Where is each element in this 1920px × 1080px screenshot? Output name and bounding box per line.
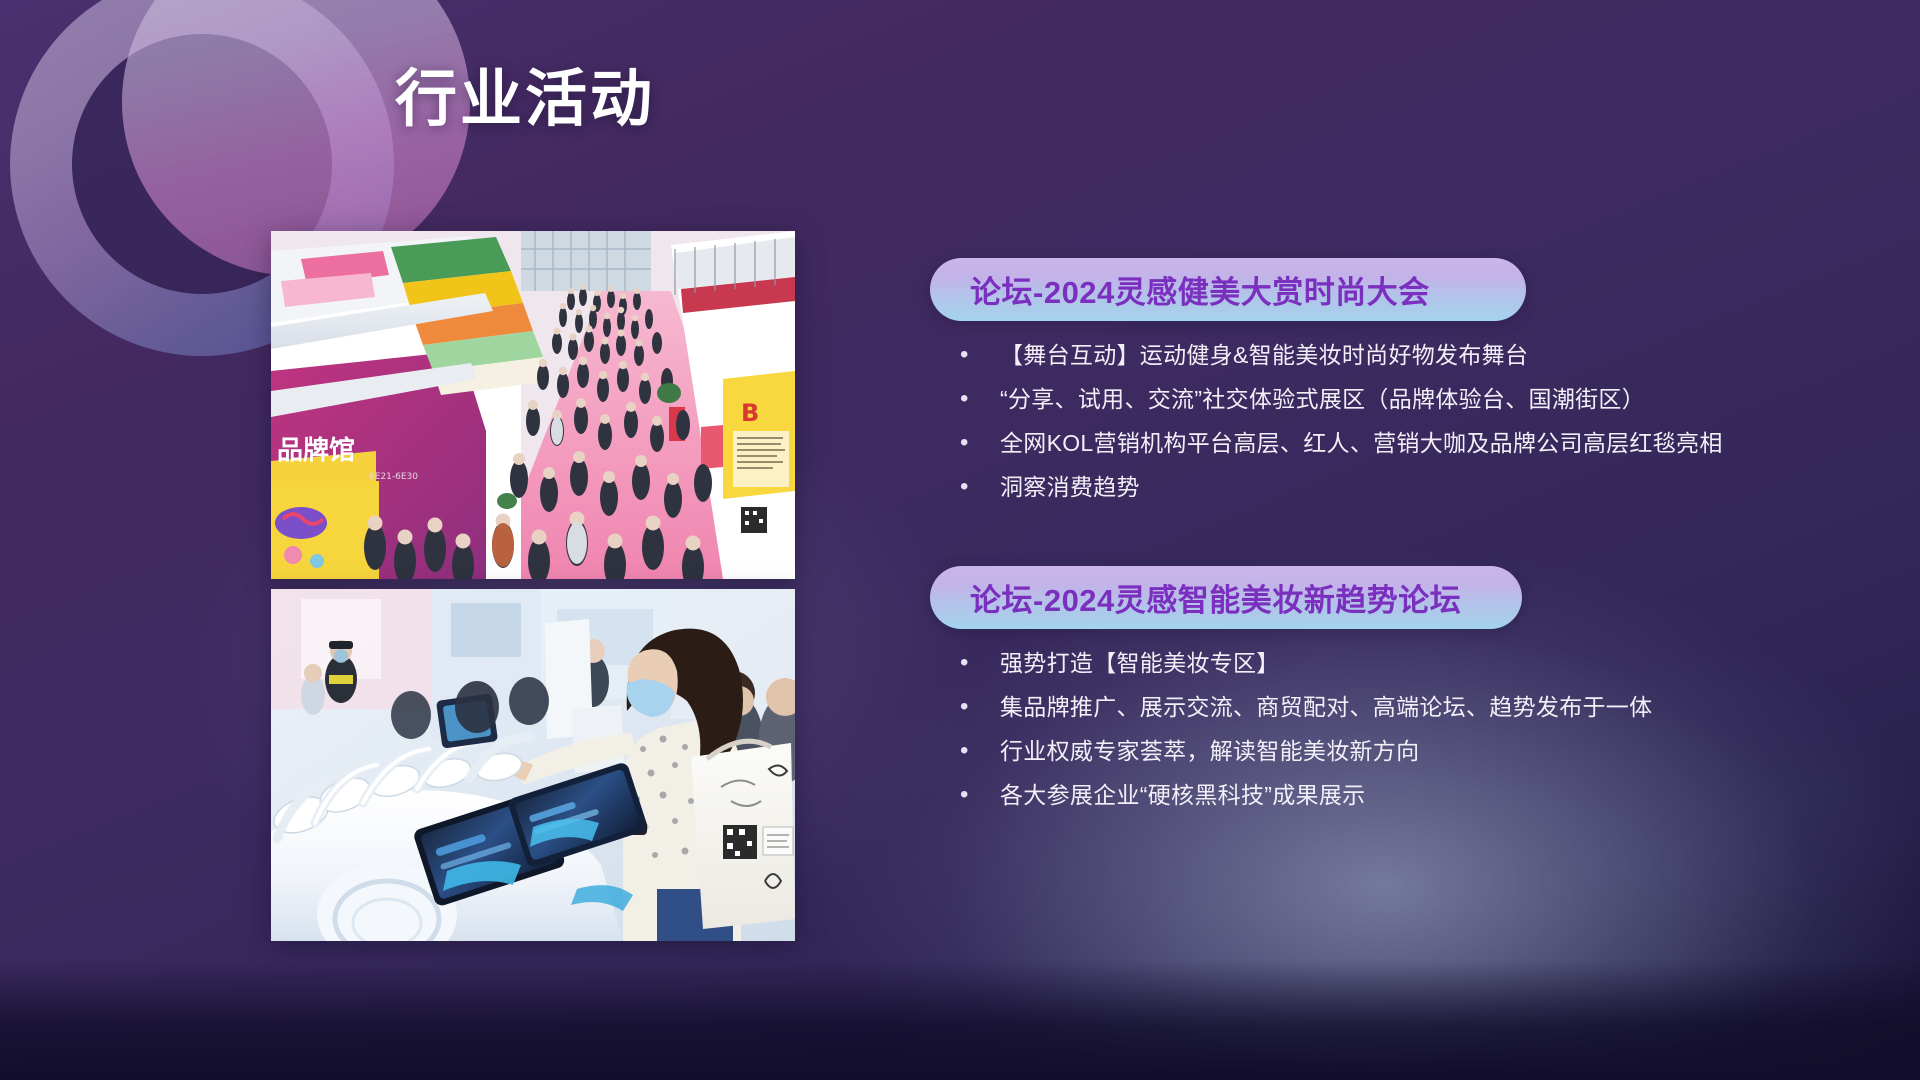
svg-text:B: B <box>741 399 759 427</box>
section-header-pill[interactable]: 论坛-2024灵感健美大赏时尚大会 <box>930 258 1526 321</box>
bullet-list: • 强势打造【智能美妆专区】 • 集品牌推广、展示交流、商贸配对、高端论坛、趋势… <box>944 648 1652 824</box>
list-item: • 全网KOL营销机构平台高层、红人、营销大咖及品牌公司高层红毯亮相 <box>944 428 1723 458</box>
bullet-marker-icon: • <box>944 692 1000 722</box>
list-item-label: 全网KOL营销机构平台高层、红人、营销大咖及品牌公司高层红毯亮相 <box>1000 428 1723 458</box>
page-title: 行业活动 <box>395 66 655 134</box>
exhibition-hall-photo: 品牌馆 6E21-6E30 B <box>271 231 795 579</box>
smart-beauty-devices-photo <box>271 589 795 941</box>
list-item-label: 各大参展企业“硬核黑科技”成果展示 <box>1000 780 1365 810</box>
exhibition-hall-illustration: 品牌馆 6E21-6E30 B <box>271 231 795 579</box>
svg-text:6E21-6E30: 6E21-6E30 <box>369 472 418 482</box>
list-item: • 行业权威专家荟萃，解读智能美妆新方向 <box>944 736 1652 766</box>
bullet-marker-icon: • <box>944 648 1000 678</box>
bullet-marker-icon: • <box>944 428 1000 458</box>
list-item: • 强势打造【智能美妆专区】 <box>944 648 1652 678</box>
bullet-marker-icon: • <box>944 340 1000 370</box>
section-header-label: 论坛-2024灵感健美大赏时尚大会 <box>970 267 1430 312</box>
bullet-marker-icon: • <box>944 472 1000 502</box>
list-item-label: 行业权威专家荟萃，解读智能美妆新方向 <box>1000 736 1419 766</box>
bullet-marker-icon: • <box>944 384 1000 414</box>
list-item-label: 集品牌推广、展示交流、商贸配对、高端论坛、趋势发布于一体 <box>1000 692 1652 722</box>
list-item-label: 强势打造【智能美妆专区】 <box>1000 648 1280 678</box>
svg-text:品牌馆: 品牌馆 <box>277 435 355 466</box>
bullet-marker-icon: • <box>944 736 1000 766</box>
list-item-label: 【舞台互动】运动健身&智能美妆时尚好物发布舞台 <box>1000 340 1528 370</box>
bullet-list: • 【舞台互动】运动健身&智能美妆时尚好物发布舞台 • “分享、试用、交流”社交… <box>944 340 1723 516</box>
list-item-label: “分享、试用、交流”社交体验式展区（品牌体验台、国潮街区） <box>1000 384 1645 414</box>
list-item: • “分享、试用、交流”社交体验式展区（品牌体验台、国潮街区） <box>944 384 1723 414</box>
list-item: • 各大参展企业“硬核黑科技”成果展示 <box>944 780 1652 810</box>
bullet-marker-icon: • <box>944 780 1000 810</box>
smart-beauty-illustration <box>271 589 795 941</box>
list-item-label: 洞察消费趋势 <box>1000 472 1140 502</box>
slide-canvas: 行业活动 <box>0 0 1920 1080</box>
list-item: • 洞察消费趋势 <box>944 472 1723 502</box>
section-header-label: 论坛-2024灵感智能美妆新趋势论坛 <box>970 575 1461 620</box>
section-header-pill[interactable]: 论坛-2024灵感智能美妆新趋势论坛 <box>930 566 1522 629</box>
list-item: • 【舞台互动】运动健身&智能美妆时尚好物发布舞台 <box>944 340 1723 370</box>
list-item: • 集品牌推广、展示交流、商贸配对、高端论坛、趋势发布于一体 <box>944 692 1652 722</box>
